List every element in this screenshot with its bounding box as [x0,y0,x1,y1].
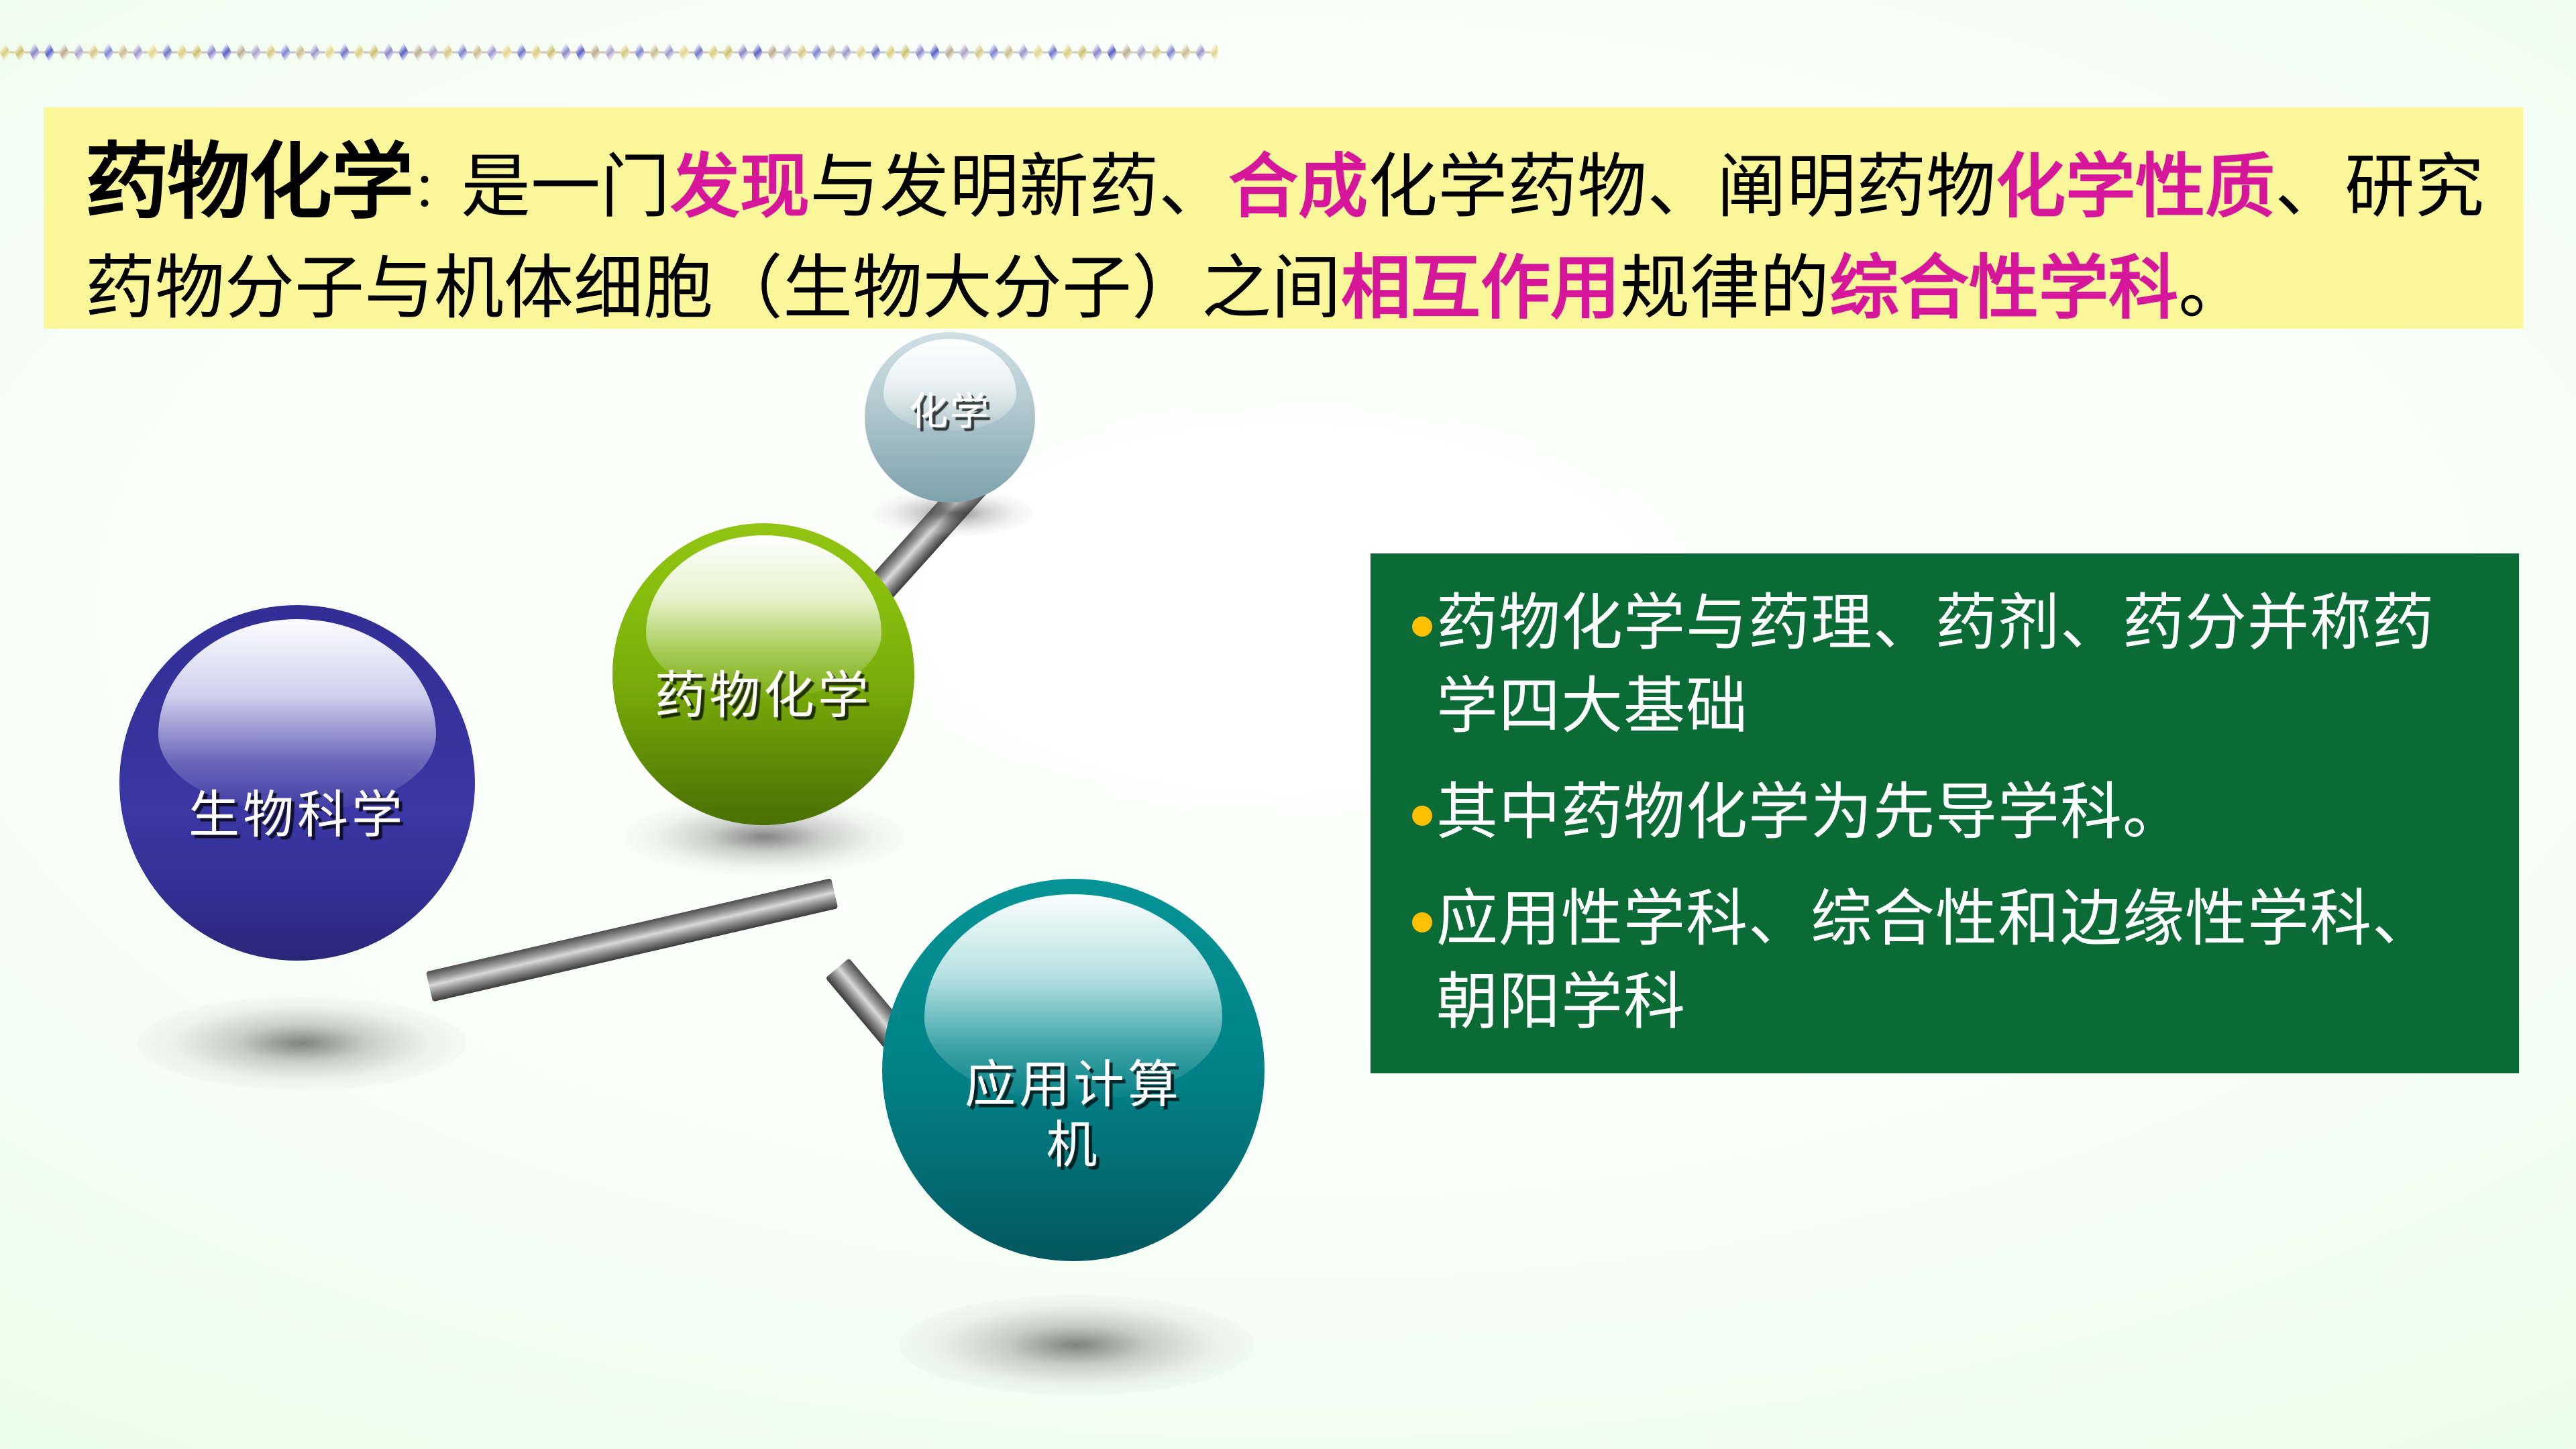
diamond-bead-icon [945,42,955,62]
diamond-bead-icon [679,42,689,62]
diamond-bead-icon [989,42,999,62]
diamond-bead-icon [694,42,704,62]
diamond-bead-icon [856,42,866,62]
definition-run: 综合性学科 [1829,246,2178,329]
diamond-bead-icon [369,42,379,62]
bullet-dot-icon [1412,912,1432,932]
diamond-bead-icon [620,42,630,62]
diamond-bead-icon [398,42,409,62]
diamond-bead-icon [1048,42,1058,62]
diamond-bead-icon [915,42,925,62]
diamond-bead-icon [885,42,896,62]
diamond-bead-icon [1136,42,1146,62]
diamond-bead-icon [325,42,335,62]
diamond-bead-icon [738,42,748,62]
diamond-bead-icon [708,42,718,62]
diamond-bead-icon [207,42,217,62]
diamond-bead-icon [487,42,497,62]
list-item: 其中药物化学为先导学科。 [1412,771,2485,854]
diamond-bead-icon [723,42,733,62]
diamond-bead-icon [162,42,172,62]
definition-run: 发现 [670,145,810,227]
definition-run: 药物化学 [85,133,413,231]
node-chemistry[interactable]: 化学 [865,332,1035,502]
diamond-bead-icon [753,42,763,62]
bullet-dot-icon [1412,616,1432,637]
diamond-bead-icon [15,42,25,62]
diamond-bead-icon [354,42,364,62]
diamond-bead-icon [133,42,143,62]
diamond-bead-icon [517,42,527,62]
node-applied-computing-label-line2: 机 [1046,1115,1101,1175]
shadow-comp [899,1295,1254,1395]
discipline-diagram: 化学 生物科学 药物化学 应用计算 机 [0,288,1368,1449]
diamond-bead-icon [1092,42,1102,62]
node-biological-science-label: 生物科学 [119,785,475,845]
diamond-bead-icon [812,42,822,62]
diamond-bead-icon [826,42,837,62]
definition-line-1: 药物化学：是一门发现与发明新药、合成化学药物、阐明药物化学性质、研究 [85,146,2484,227]
diamond-bead-icon [1107,42,1117,62]
definition-run: 、研究 [2275,146,2484,227]
definition-run: ： [413,162,461,218]
diamond-bead-icon [428,42,438,62]
list-item: 药物化学与药理、药剂、药分并称药学四大基础 [1412,582,2485,748]
diamond-bead-icon [1195,42,1205,62]
diamond-bead-icon [871,42,881,62]
diamond-bead-icon [236,42,246,62]
note-text: 应用性学科、综合性和边缘性学科、朝阳学科 [1436,877,2485,1044]
diamond-bead-icon [959,42,969,62]
diamond-bead-icon [192,42,202,62]
diamond-bead-icon [458,42,468,62]
top-decorative-border [0,39,1218,66]
definition-run: 化学药物、阐明药物 [1368,146,1996,227]
shadow-bio [138,996,466,1090]
definition-run: 规律的 [1620,247,1829,329]
diamond-bead-icon [148,42,158,62]
diamond-bead-icon [295,42,305,62]
diamond-bead-icon [1151,42,1161,62]
diamond-bead-icon [1077,42,1087,62]
sphere-highlight [158,619,435,811]
diamond-bead-icon [280,42,290,62]
diamond-bead-icon [44,42,54,62]
diamond-bead-icon [782,42,792,62]
diamond-bead-icon [635,42,645,62]
diamond-bead-icon [767,42,777,62]
diamond-bead-icon [841,42,851,62]
node-applied-computing-label: 应用计算 机 [882,1055,1265,1175]
diamond-bead-icon [266,42,276,62]
node-biological-science[interactable]: 生物科学 [119,605,475,961]
diamond-bead-icon [413,42,423,62]
diamond-bead-icon [339,42,350,62]
notes-box: 药物化学与药理、药剂、药分并称药学四大基础 其中药物化学为先导学科。 应用性学科… [1371,553,2519,1073]
diamond-bead-icon [1122,42,1132,62]
diamond-bead-icon [1033,42,1043,62]
definition-run: 合成 [1228,145,1368,227]
diamond-bead-icon [472,42,482,62]
list-item: 应用性学科、综合性和边缘性学科、朝阳学科 [1412,877,2485,1044]
diamond-bead-icon [384,42,394,62]
diamond-bead-icon [74,42,84,62]
diamond-bead-icon [59,42,69,62]
diamond-bead-icon [605,42,615,62]
bullet-dot-icon [1412,806,1432,826]
diamond-bead-icon [251,42,261,62]
diamond-bead-icon [900,42,910,62]
diamond-bead-icon [443,42,453,62]
note-text: 其中药物化学为先导学科。 [1436,771,2185,854]
definition-run: 是一门 [461,146,670,227]
diamond-bead-icon [103,42,113,62]
diamond-bead-icon [649,42,659,62]
diamond-bead-icon [531,42,541,62]
diamond-bead-icon [310,42,320,62]
diamond-bead-icon [974,42,984,62]
diamond-bead-icon [0,42,10,62]
diamond-bead-icon [797,42,807,62]
node-applied-computing[interactable]: 应用计算 机 [882,879,1265,1261]
diamond-bead-icon [89,42,99,62]
node-medicinal-chemistry-label: 药物化学 [612,665,914,726]
definition-run: 相互作用 [1341,246,1620,329]
diamond-bead-icon [1166,42,1176,62]
diamond-bead-icon [930,42,940,62]
diamond-bead-icon [177,42,187,62]
definition-run: 。 [2178,247,2248,329]
diamond-bead-icon [118,42,128,62]
diamond-bead-icon [221,42,231,62]
diamond-bead-icon [1181,42,1191,62]
diamond-bead-icon [1018,42,1028,62]
diamond-bead-icon [502,42,512,62]
diamond-bead-icon [664,42,674,62]
diamond-bead-icon [1210,42,1218,62]
slide-canvas: 药物化学：是一门发现与发明新药、合成化学药物、阐明药物化学性质、研究药物分子与机… [0,0,2576,1449]
node-applied-computing-label-line1: 应用计算 [965,1055,1182,1114]
diamond-bead-icon [576,42,586,62]
note-text: 药物化学与药理、药剂、药分并称药学四大基础 [1436,582,2485,748]
node-chemistry-label: 化学 [865,388,1035,434]
diamond-bead-icon [561,42,571,62]
definition-run: 化学性质 [1996,145,2275,227]
diamond-bead-icon [590,42,600,62]
connector-bio-to-med [426,878,838,1002]
diamond-bead-icon [1063,42,1073,62]
diamond-bead-icon [30,42,40,62]
node-medicinal-chemistry[interactable]: 药物化学 [612,523,914,825]
diamond-bead-icon [1004,42,1014,62]
definition-run: 与发明新药、 [810,146,1228,227]
diamond-bead-icon [546,42,556,62]
